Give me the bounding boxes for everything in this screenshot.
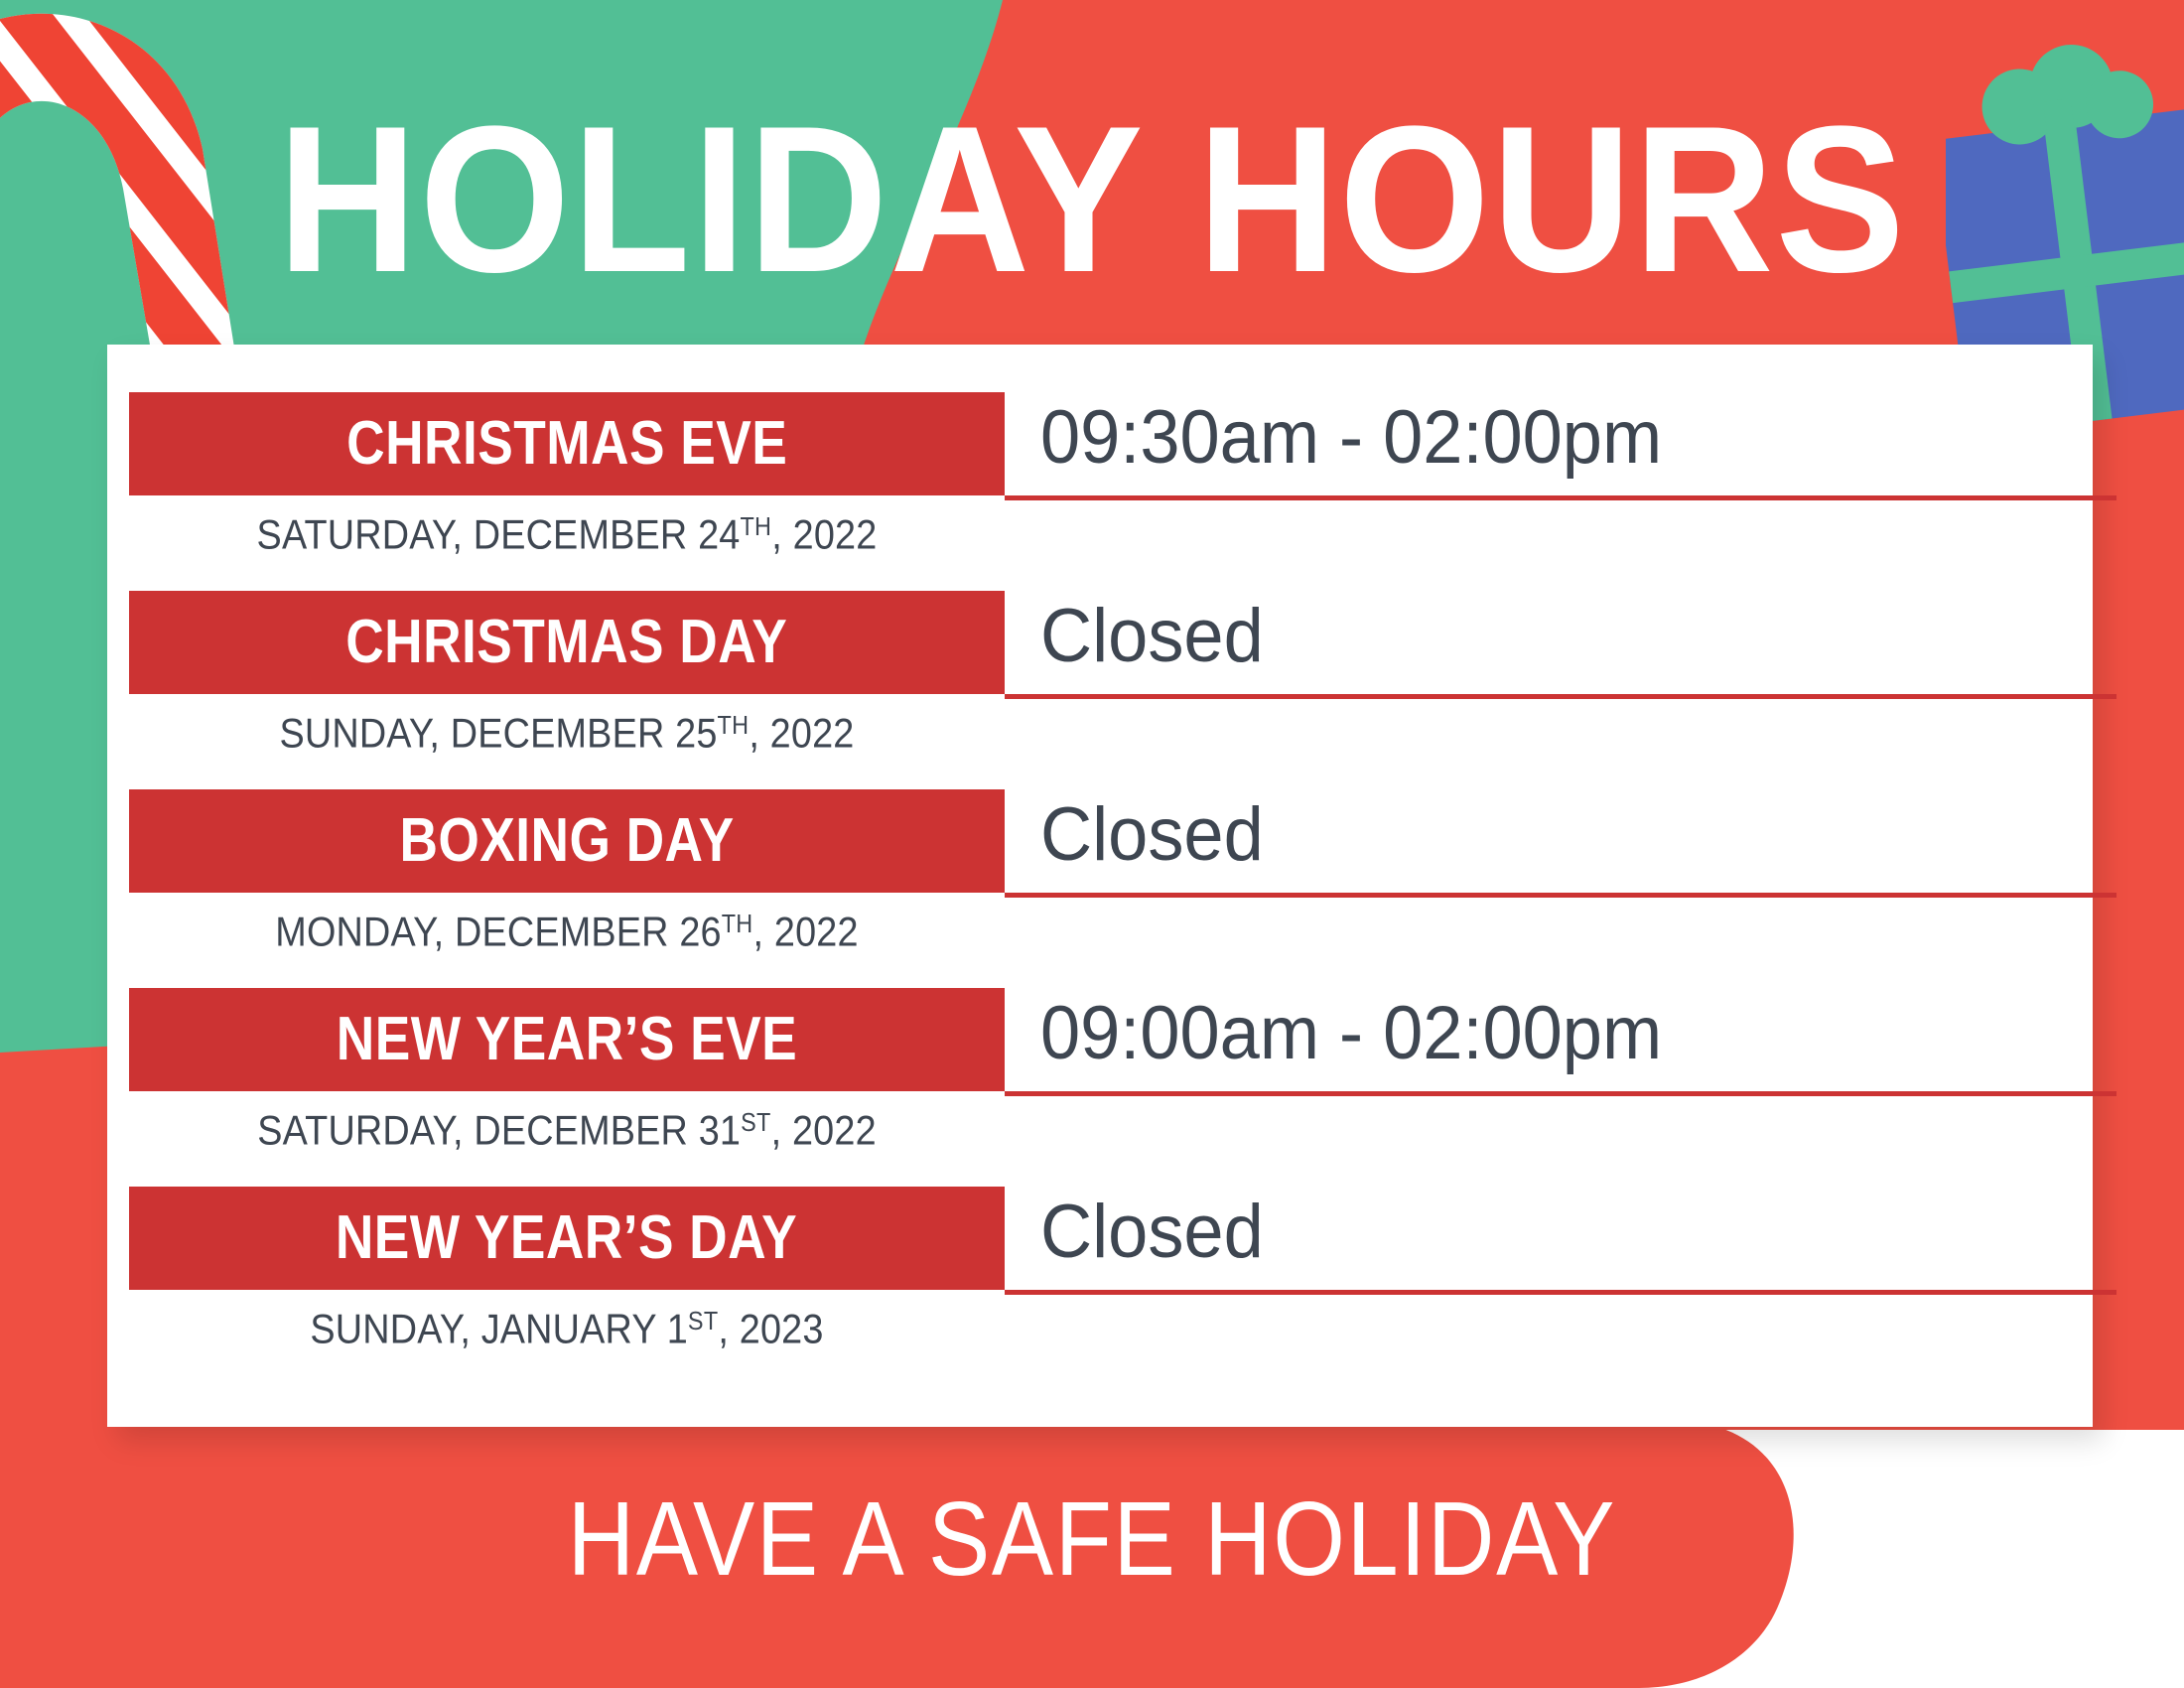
holiday-name-band: NEW YEAR’S DAY bbox=[129, 1187, 1005, 1290]
holiday-date-suffix: , 2022 bbox=[749, 710, 854, 757]
footer-message: HAVE A SAFE HOLIDAY bbox=[131, 1486, 2053, 1592]
holiday-date-suffix: , 2022 bbox=[771, 511, 877, 558]
holiday-date: MONDAY, DECEMBER 26TH, 2022 bbox=[173, 911, 961, 953]
holiday-date-prefix: SUNDAY, DECEMBER 25 bbox=[279, 710, 717, 757]
holiday-date-suffix: , 2023 bbox=[718, 1306, 823, 1352]
holiday-name-band: BOXING DAY bbox=[129, 789, 1005, 893]
holiday-date-ordinal: TH bbox=[718, 710, 750, 740]
holiday-hours: Closed bbox=[1040, 797, 1983, 873]
holiday-hours-poster: HOLIDAY HOURS CHRISTMAS EVE 09:30am - 02… bbox=[0, 0, 2184, 1688]
holiday-hours: 09:00am - 02:00pm bbox=[1040, 996, 1983, 1071]
page-title: HOLIDAY HOURS bbox=[76, 95, 2108, 304]
holiday-hours: Closed bbox=[1040, 599, 1983, 674]
holiday-hours: Closed bbox=[1040, 1195, 1983, 1270]
row-underline bbox=[1005, 1091, 2116, 1096]
holiday-name-band: CHRISTMAS EVE bbox=[129, 392, 1005, 495]
holiday-hours: 09:30am - 02:00pm bbox=[1040, 400, 1983, 476]
holiday-date-prefix: SUNDAY, JANUARY 1 bbox=[310, 1306, 688, 1352]
holiday-name: NEW YEAR’S DAY bbox=[336, 1207, 797, 1269]
holiday-date: SUNDAY, JANUARY 1ST, 2023 bbox=[173, 1308, 961, 1350]
holiday-name: CHRISTMAS EVE bbox=[346, 413, 787, 475]
schedule-rows: CHRISTMAS EVE 09:30am - 02:00pm SATURDAY… bbox=[107, 345, 2093, 1427]
holiday-name-band: NEW YEAR’S EVE bbox=[129, 988, 1005, 1091]
holiday-date-ordinal: ST bbox=[741, 1107, 770, 1137]
holiday-name: NEW YEAR’S EVE bbox=[337, 1009, 797, 1070]
holiday-date: SATURDAY, DECEMBER 24TH, 2022 bbox=[173, 513, 961, 556]
row-underline bbox=[1005, 694, 2116, 699]
holiday-name-band: CHRISTMAS DAY bbox=[129, 591, 1005, 694]
holiday-name: CHRISTMAS DAY bbox=[345, 612, 787, 673]
row-underline bbox=[1005, 1290, 2116, 1295]
holiday-date-prefix: MONDAY, DECEMBER 26 bbox=[275, 909, 721, 955]
holiday-date: SATURDAY, DECEMBER 31ST, 2022 bbox=[173, 1109, 961, 1152]
holiday-date-suffix: , 2022 bbox=[771, 1107, 877, 1154]
holiday-date-prefix: SATURDAY, DECEMBER 31 bbox=[257, 1107, 741, 1154]
row-underline bbox=[1005, 495, 2116, 500]
schedule-card: CHRISTMAS EVE 09:30am - 02:00pm SATURDAY… bbox=[107, 345, 2093, 1427]
holiday-date-suffix: , 2022 bbox=[753, 909, 859, 955]
holiday-date-ordinal: TH bbox=[740, 511, 771, 541]
holiday-date-ordinal: TH bbox=[722, 909, 753, 938]
holiday-name: BOXING DAY bbox=[399, 810, 734, 872]
holiday-date-prefix: SATURDAY, DECEMBER 24 bbox=[257, 511, 741, 558]
holiday-date: SUNDAY, DECEMBER 25TH, 2022 bbox=[173, 712, 961, 755]
holiday-date-ordinal: ST bbox=[688, 1306, 718, 1336]
row-underline bbox=[1005, 893, 2116, 898]
